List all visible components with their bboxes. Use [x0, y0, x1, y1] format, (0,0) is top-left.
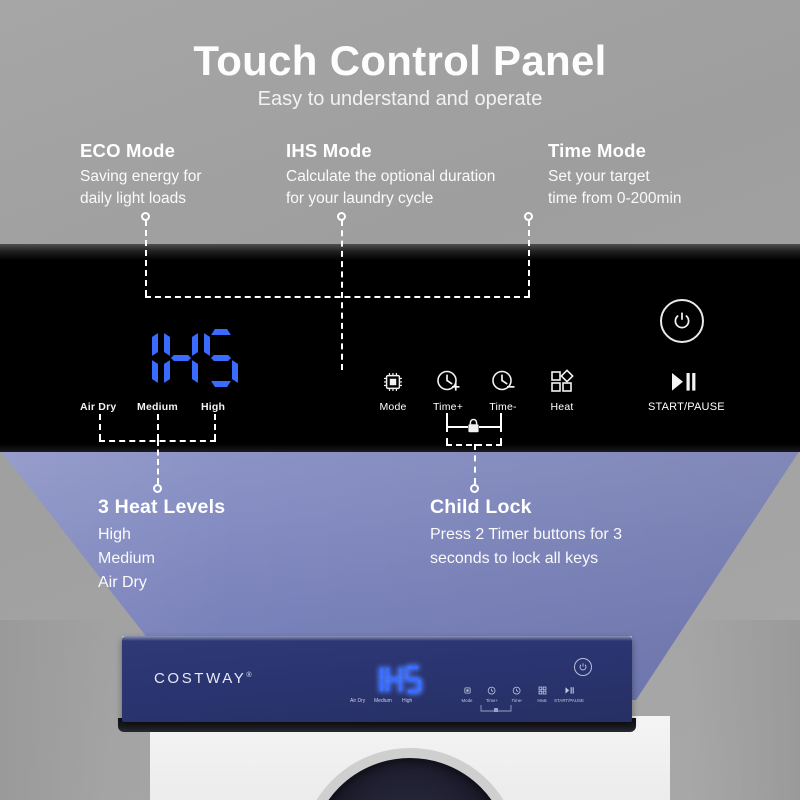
callout-time-line1: Set your target: [548, 166, 778, 188]
heat-leader-down: [157, 440, 159, 484]
heat-bracket-right: [214, 414, 216, 440]
callout-ihs-mode: IHS Mode Calculate the optional duration…: [286, 140, 536, 211]
heat-indicator-medium: Medium: [137, 401, 178, 413]
product-led-digit-1: [367, 666, 383, 693]
callout-heat-line1: High: [98, 523, 348, 547]
callout-heat-line3: Air Dry: [98, 571, 348, 595]
page-title: Touch Control Panel: [0, 38, 800, 83]
lock-connector-right: [500, 413, 502, 427]
leader-line-eco-vertical: [145, 220, 147, 296]
product-heat-air-dry: Air Dry: [350, 698, 365, 704]
led-digit-2: [164, 329, 198, 387]
heat-indicator-air-dry: Air Dry: [80, 401, 116, 413]
product-led-digit-3: [405, 666, 421, 693]
callout-ihs-title: IHS Mode: [286, 140, 536, 162]
play-pause-icon: [648, 367, 718, 397]
leader-line-top-horizontal: [145, 296, 530, 298]
callout-time-mode: Time Mode Set your target time from 0-20…: [548, 140, 778, 211]
product-power-button[interactable]: [574, 658, 592, 676]
callout-lock-line2: seconds to lock all keys: [430, 547, 690, 571]
product-lock-bracket: [480, 700, 512, 718]
button-heat[interactable]: Heat: [527, 367, 597, 413]
callout-eco-line2: daily light loads: [80, 188, 290, 210]
led-digit-3: [204, 329, 238, 387]
callout-time-title: Time Mode: [548, 140, 778, 162]
lock-connector-bar-right: [479, 426, 501, 428]
product-button-heat[interactable]: Heat: [527, 684, 557, 703]
leader-line-time-vertical: [528, 220, 530, 296]
product-button-start-pause-label: START/PAUSE: [554, 698, 584, 703]
heat-squares-icon: [527, 367, 597, 397]
panel-highlight: [122, 636, 632, 641]
callout-lock-line1: Press 2 Timer buttons for 3: [430, 523, 690, 547]
brand-trademark: ®: [246, 672, 254, 679]
button-heat-label: Heat: [527, 401, 597, 413]
leader-dot-lock: [470, 484, 479, 493]
page-subtitle: Easy to understand and operate: [0, 88, 800, 111]
callout-heat-line2: Medium: [98, 547, 348, 571]
page-header: Touch Control Panel Easy to understand a…: [0, 38, 800, 111]
product-led-display: [367, 666, 421, 693]
callout-heat-levels: 3 Heat Levels High Medium Air Dry: [98, 496, 348, 595]
power-icon: [578, 662, 588, 672]
product-button-start-pause[interactable]: START/PAUSE: [554, 684, 584, 703]
product-heat-medium: Medium: [374, 698, 392, 704]
callout-lock-title: Child Lock: [430, 496, 690, 519]
button-start-pause[interactable]: START/PAUSE: [648, 367, 718, 413]
button-start-pause-label: START/PAUSE: [648, 401, 718, 413]
lock-bracket-left: [446, 426, 448, 444]
product-button-heat-label: Heat: [527, 698, 557, 703]
callout-time-line2: time from 0-200min: [548, 188, 778, 210]
callout-ihs-line1: Calculate the optional duration: [286, 166, 536, 188]
leader-line-ihs-vertical: [341, 220, 343, 370]
led-digit-1: [124, 329, 158, 387]
product-photo: COSTWAY® Air Dry Medium High: [0, 620, 800, 800]
power-icon: [671, 310, 693, 332]
brand-logo: COSTWAY®: [154, 670, 254, 687]
product-heat-high: High: [402, 698, 412, 704]
heat-squares-icon: [527, 684, 557, 697]
heat-bracket-left: [99, 414, 101, 440]
callout-eco-title: ECO Mode: [80, 140, 290, 162]
lock-icon: [467, 418, 480, 439]
touch-control-panel: [0, 244, 800, 452]
lock-leader-down: [474, 444, 476, 484]
lock-connector-left: [446, 413, 448, 427]
product-led-digit-2: [386, 666, 402, 693]
heat-bracket-mid: [157, 414, 159, 440]
callout-eco-line1: Saving energy for: [80, 166, 290, 188]
lock-bracket-right: [500, 426, 502, 444]
dryer-control-panel: COSTWAY® Air Dry Medium High: [122, 636, 632, 722]
led-display: [124, 327, 244, 389]
callout-eco-mode: ECO Mode Saving energy for daily light l…: [80, 140, 290, 211]
brand-logo-text: COSTWAY: [154, 670, 246, 687]
callout-heat-title: 3 Heat Levels: [98, 496, 348, 519]
callout-ihs-line2: for your laundry cycle: [286, 188, 536, 210]
leader-dot-heat: [153, 484, 162, 493]
callout-child-lock: Child Lock Press 2 Timer buttons for 3 s…: [430, 496, 690, 571]
heat-indicator-high: High: [201, 401, 225, 413]
power-button[interactable]: [660, 299, 704, 343]
infographic-stage: Touch Control Panel Easy to understand a…: [0, 0, 800, 800]
lock-connector-bar-left: [446, 426, 468, 428]
play-pause-icon: [554, 684, 584, 697]
